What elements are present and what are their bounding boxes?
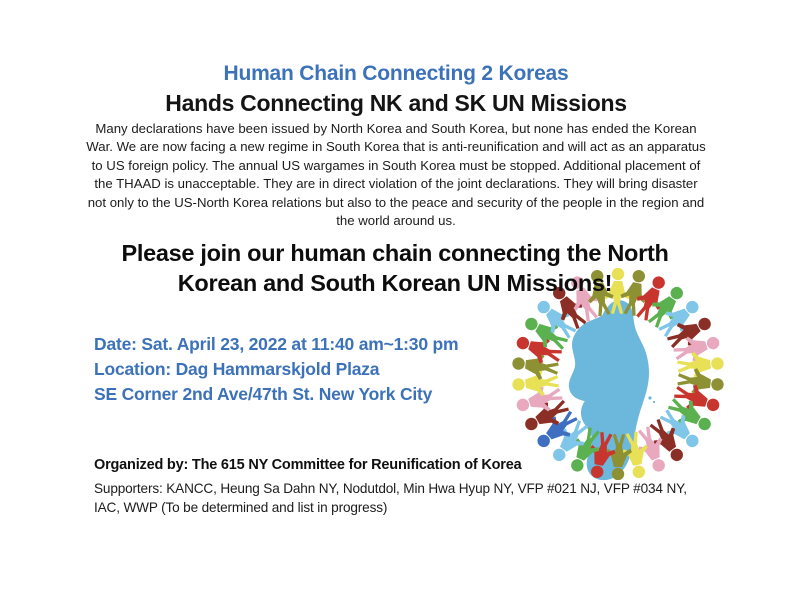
organizer-line: Organized by: The 615 NY Committee for R… — [94, 455, 714, 475]
supporters-line: Supporters: KANCC, Heung Sa Dahn NY, Nod… — [94, 479, 714, 517]
human-chain-around-korea-illustration — [498, 268, 738, 480]
event-details-block: Date: Sat. April 23, 2022 at 11:40 am~1:… — [94, 332, 514, 407]
flyer-footer: Organized by: The 615 NY Committee for R… — [94, 455, 714, 517]
event-address-line: SE Corner 2nd Ave/47th St. New York City — [94, 382, 514, 407]
flyer-main-heading: Hands Connecting NK and SK UN Missions — [0, 90, 792, 117]
flyer-call-to-action: Please join our human chain connecting t… — [80, 238, 710, 298]
flyer-body-paragraph: Many declarations have been issued by No… — [84, 120, 708, 230]
event-location-line: Location: Dag Hammarskjold Plaza — [94, 357, 514, 382]
event-date-line: Date: Sat. April 23, 2022 at 11:40 am~1:… — [94, 332, 514, 357]
human-chain-svg — [498, 268, 738, 480]
flyer-subtitle-heading: Human Chain Connecting 2 Koreas — [0, 62, 792, 86]
flyer-page: Human Chain Connecting 2 Koreas Hands Co… — [0, 0, 792, 612]
